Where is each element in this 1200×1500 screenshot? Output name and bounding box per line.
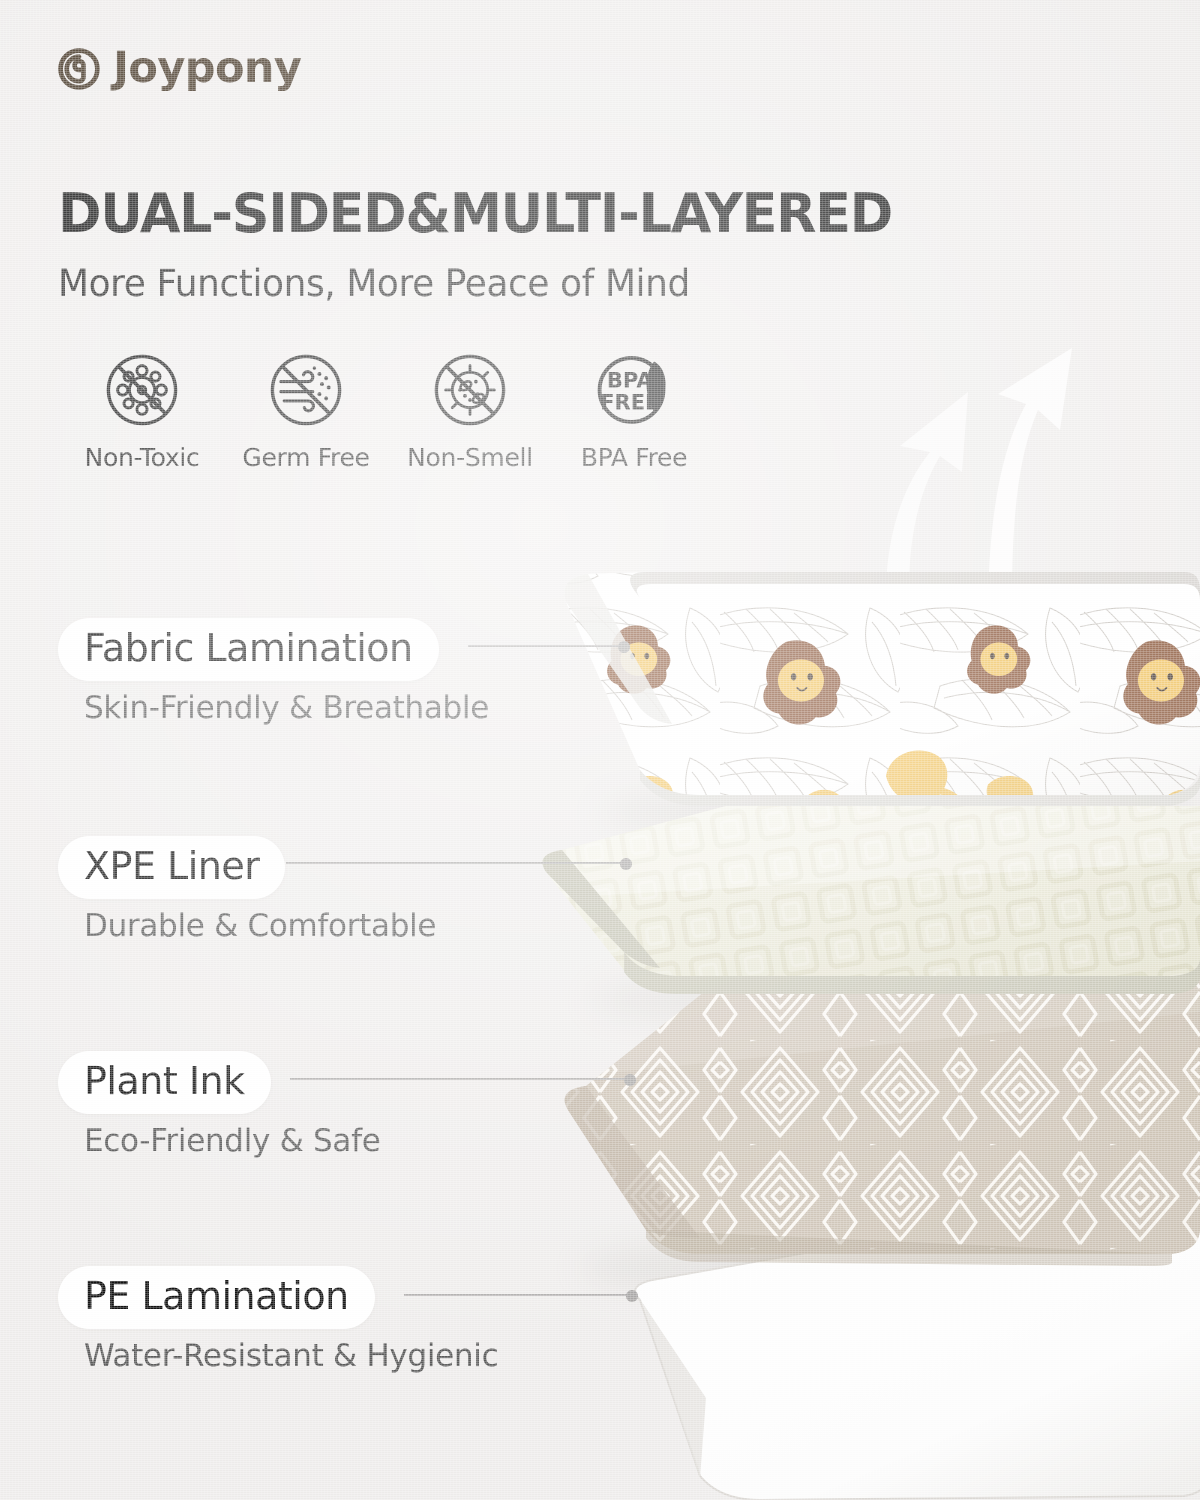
leader-line-fabric-lamination — [468, 645, 624, 647]
badge-label: BPA Free — [581, 443, 687, 472]
callout-title: PE Lamination — [58, 1266, 375, 1329]
feature-badge-row: Non-Toxic Germ Free — [60, 348, 716, 472]
page-title: DUAL-SIDED&MULTI-LAYERED — [58, 186, 892, 243]
bpa-free-leaf-icon: BPA FREE — [592, 348, 676, 432]
page-subtitle: More Functions, More Peace of Mind — [58, 262, 690, 305]
no-virus-icon — [100, 348, 184, 432]
brand-logo: Joypony — [58, 47, 301, 90]
badge-label: Non-Toxic — [85, 443, 200, 472]
badge-label: Non-Smell — [407, 443, 533, 472]
callout-subtitle: Skin-Friendly & Breathable — [84, 690, 489, 726]
badge-non-smell: Non-Smell — [388, 348, 552, 472]
badge-label: Germ Free — [242, 443, 369, 472]
joypony-circle-mark — [58, 48, 100, 90]
callout-xpe-liner: XPE Liner Durable & Comfortable — [58, 836, 436, 944]
callout-subtitle: Durable & Comfortable — [84, 908, 436, 944]
callout-fabric-lamination: Fabric Lamination Skin-Friendly & Breath… — [58, 618, 489, 726]
no-odor-wind-icon — [264, 348, 348, 432]
bpa-text-line1: BPA — [607, 368, 653, 392]
callout-subtitle: Water-Resistant & Hygienic — [84, 1338, 498, 1374]
callout-title: Fabric Lamination — [58, 618, 439, 681]
callout-title: Plant Ink — [58, 1051, 271, 1114]
callout-subtitle: Eco-Friendly & Safe — [84, 1123, 381, 1159]
callout-pe-lamination: PE Lamination Water-Resistant & Hygienic — [58, 1266, 498, 1374]
callout-plant-ink: Plant Ink Eco-Friendly & Safe — [58, 1051, 381, 1159]
bpa-text-line2: FREE — [600, 390, 659, 414]
badge-bpa-free: BPA FREE BPA Free — [552, 348, 716, 472]
no-germ-icon — [428, 348, 512, 432]
badge-germ-free: Germ Free — [224, 348, 388, 472]
callout-title: XPE Liner — [58, 836, 285, 899]
badge-non-toxic: Non-Toxic — [60, 348, 224, 472]
mat-layer-fabric-lamination — [550, 560, 1200, 810]
brand-name: Joypony — [113, 47, 301, 90]
